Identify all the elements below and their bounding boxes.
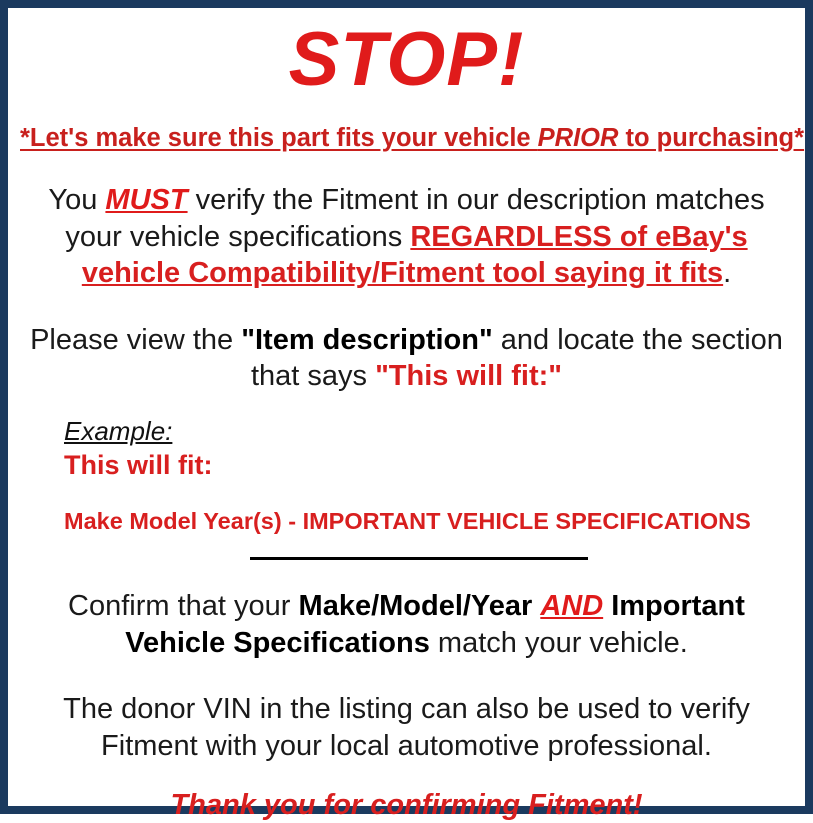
confirm-part1: Confirm that your <box>68 590 298 622</box>
fitment-notice-frame: STOP! *Let's make sure this part fits yo… <box>0 0 813 814</box>
stop-title: STOP! <box>20 22 793 98</box>
confirm-part4: match your vehicle. <box>430 627 688 659</box>
desc-part1: Please view the <box>30 324 241 356</box>
divider-wrap <box>20 557 793 560</box>
make-model-year-emphasis: Make/Model/Year <box>299 590 533 622</box>
vin-paragraph: The donor VIN in the listing can also be… <box>20 691 793 764</box>
must-verify-paragraph: You MUST verify the Fitment in our descr… <box>20 182 793 292</box>
and-emphasis: AND <box>540 590 603 622</box>
thanks-line: Thank you for confirming Fitment! <box>20 788 793 823</box>
subtitle-before: *Let's make sure this part fits your veh… <box>20 124 538 152</box>
confirm-paragraph: Confirm that your Make/Model/Year AND Im… <box>20 588 793 661</box>
subtitle-emphasis-prior: PRIOR <box>538 124 619 152</box>
item-description-emphasis: "Item description" <box>241 324 492 356</box>
example-spec-line: Make Model Year(s) - IMPORTANT VEHICLE S… <box>64 507 793 535</box>
must-part1: You <box>48 184 105 216</box>
must-emphasis: MUST <box>105 184 187 216</box>
item-description-paragraph: Please view the "Item description" and l… <box>20 322 793 395</box>
example-label-row: Example: <box>64 417 793 447</box>
this-will-fit-quote: "This will fit:" <box>375 360 562 392</box>
section-divider <box>250 557 588 560</box>
confirm-part3 <box>603 590 611 622</box>
example-block: Example: This will fit: Make Model Year(… <box>20 417 793 535</box>
must-part3: . <box>723 257 731 289</box>
subtitle-after: to purchasing* <box>618 124 804 152</box>
subtitle-line: *Let's make sure this part fits your veh… <box>20 124 793 152</box>
example-label: Example: <box>64 417 172 447</box>
example-fit-heading: This will fit: <box>64 449 793 481</box>
